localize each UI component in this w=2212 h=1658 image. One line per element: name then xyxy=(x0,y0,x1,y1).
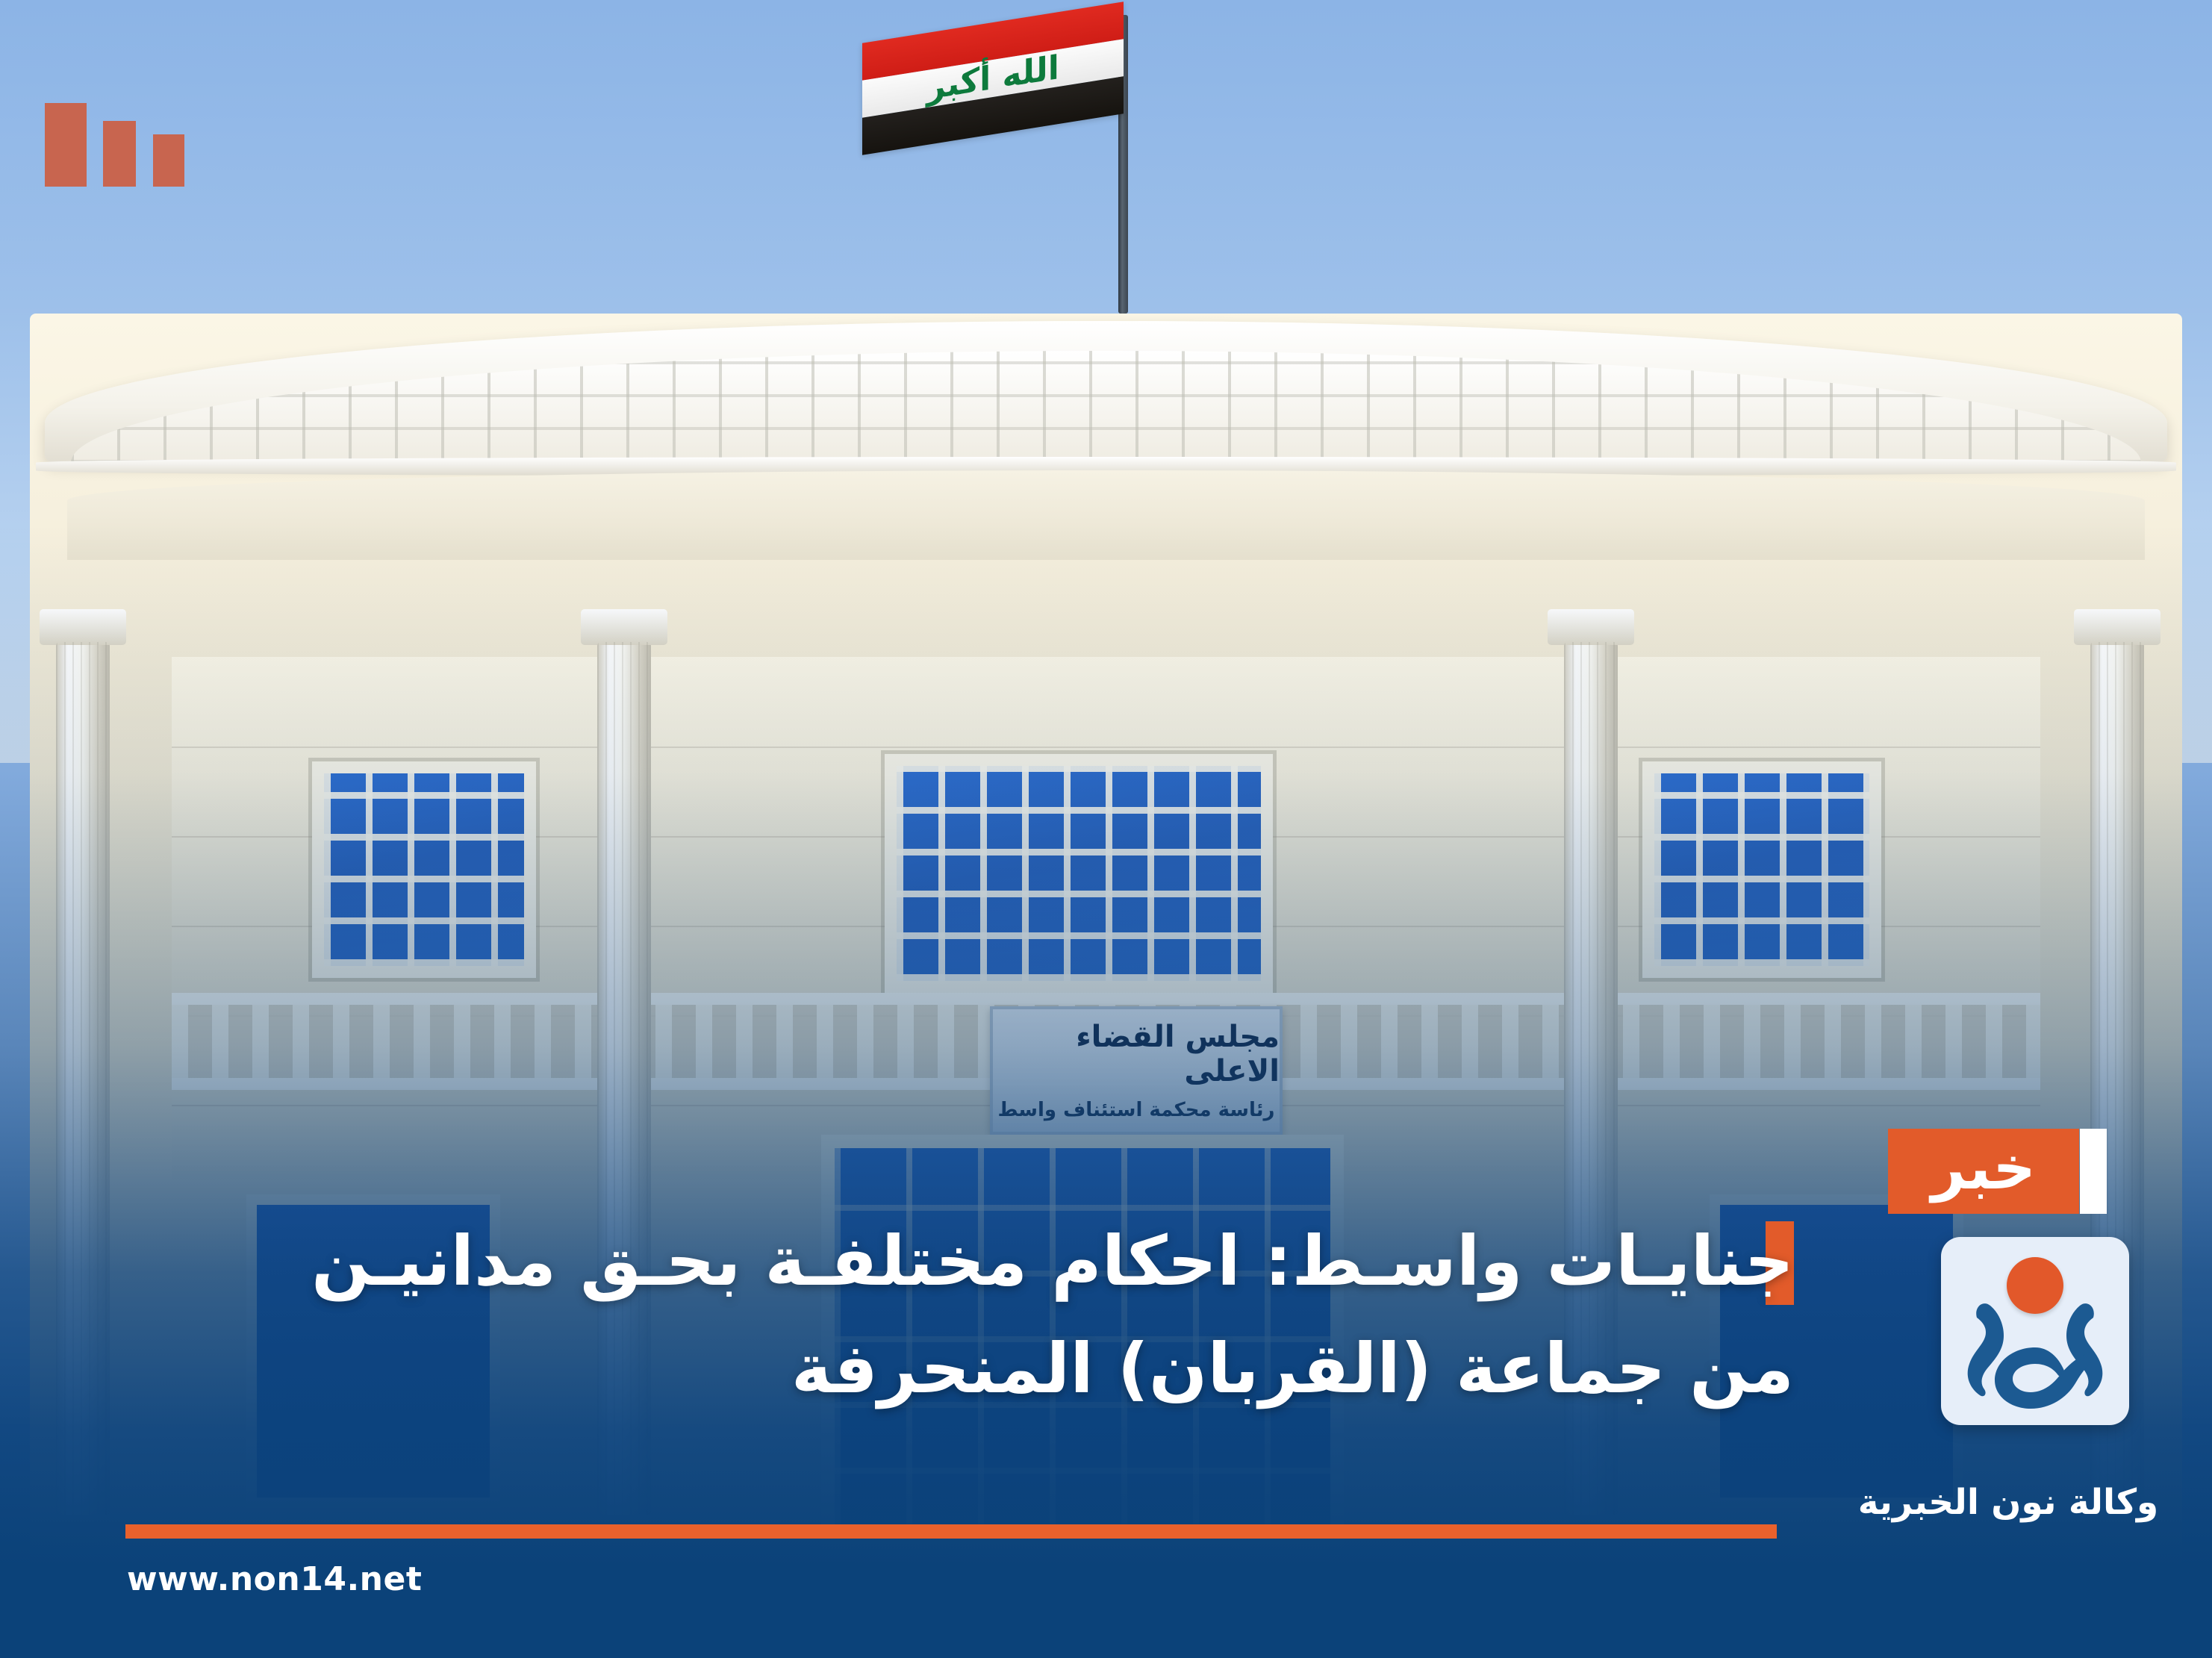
logo-figure-shape xyxy=(1941,1237,2129,1425)
news-card: مجلس القضاء الاعلى رئاسة محكمة استئناف و… xyxy=(0,0,2212,1658)
agency-name: وكالة نون الخبرية xyxy=(1844,1482,2172,1523)
footer-divider xyxy=(125,1524,1777,1539)
headline: جنايـات واسـط: احكام مختلفـة بحـق مدانيـ… xyxy=(97,1209,1794,1421)
news-badge-label: خبر xyxy=(1931,1138,2036,1204)
news-badge-tail xyxy=(2080,1129,2107,1214)
noon-agency-logo-icon xyxy=(1941,1237,2129,1425)
headline-line-2: من جماعة (القربان) المنحرفة xyxy=(97,1317,1794,1421)
website-url: www.non14.net xyxy=(127,1560,422,1598)
news-badge: خبر xyxy=(1888,1129,2079,1214)
roof-parapet xyxy=(71,351,2141,463)
headline-line-1: جنايـات واسـط: احكام مختلفـة بحـق مدانيـ… xyxy=(97,1209,1794,1314)
